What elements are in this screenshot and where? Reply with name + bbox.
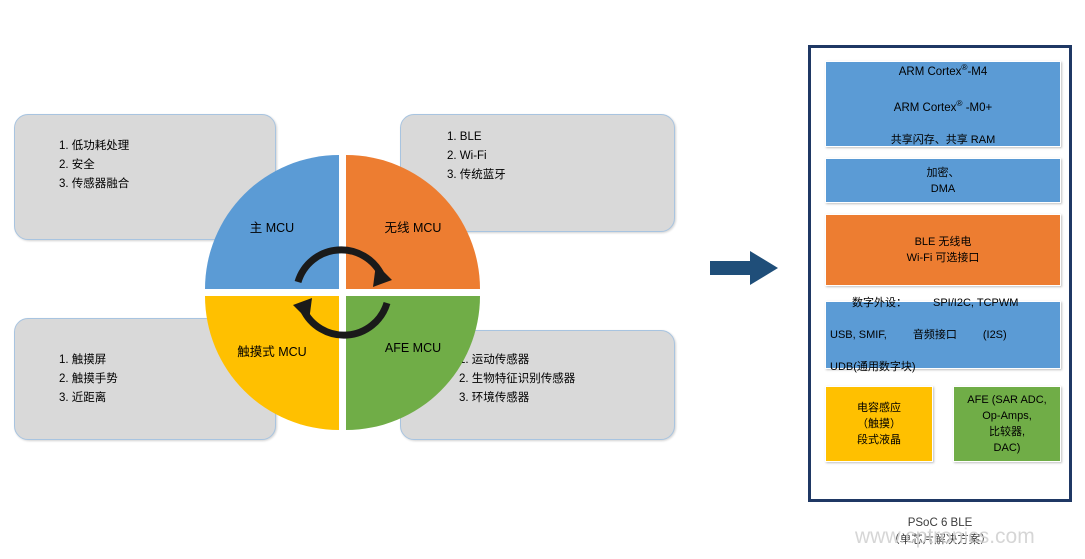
quadrant-main-mcu: 主 MCU [205,155,339,289]
quadrant-wireless-mcu: 无线 MCU [346,155,480,289]
psoc6-block-diagram: ARM Cortex®-M4 ARM Cortex® -M0+ 共享闪存、共享 … [808,45,1072,502]
callout-main-mcu-text: 1. 低功耗处理 2. 安全 3. 传感器融合 [59,137,129,194]
block-digital-row2: USB, SMIF,音频接口(I2S) [830,327,1060,343]
block-arm-cores-line1: ARM Cortex®-M4 [891,60,996,80]
block-arm-cores-line3: 共享闪存、共享 RAM [891,132,996,148]
block-digital-row3: UDB(通用数字块) [830,359,1060,375]
block-afe-text: AFE (SAR ADC, Op-Amps, 比较器, DAC) [967,392,1046,456]
block-arm-cores: ARM Cortex®-M4 ARM Cortex® -M0+ 共享闪存、共享 … [825,61,1061,147]
quadrant-touch-mcu: 触摸式 MCU [205,296,339,430]
callout-touch-mcu-text: 1. 触摸屏 2. 触摸手势 3. 近距离 [59,351,118,408]
mcu-quadrant-wheel: 主 MCU 无线 MCU 触摸式 MCU AFE MCU [205,155,480,430]
block-crypto-dma: 加密、 DMA [825,158,1061,203]
block-digital-row1: 数字外设：SPI/I2C, TCPWM [830,295,1060,311]
block-ble-radio: BLE 无线电 Wi-Fi 可选接口 [825,214,1061,286]
quadrant-wireless-mcu-label: 无线 MCU [346,217,480,236]
block-capsense: 电容感应 （触摸） 段式液晶 [825,386,933,462]
quadrant-touch-mcu-label: 触摸式 MCU [205,341,339,360]
block-arm-cores-line2: ARM Cortex® -M0+ [891,96,996,116]
quadrant-diagram: 1. 低功耗处理 2. 安全 3. 传感器融合 1. BLE 2. Wi-Fi … [0,0,700,559]
quadrant-main-mcu-label: 主 MCU [205,217,339,236]
chip-caption: PSoC 6 BLE （单芯片解决方案） [808,515,1072,549]
block-digital-peripherals: 数字外设：SPI/I2C, TCPWM USB, SMIF,音频接口(I2S) … [825,301,1061,369]
block-crypto-dma-text: 加密、 DMA [927,165,960,197]
block-afe: AFE (SAR ADC, Op-Amps, 比较器, DAC) [953,386,1061,462]
transition-arrow-icon [710,248,780,288]
block-capsense-text: 电容感应 （触摸） 段式液晶 [857,400,901,448]
quadrant-afe-mcu: AFE MCU [346,296,480,430]
block-ble-radio-text: BLE 无线电 Wi-Fi 可选接口 [907,234,980,266]
quadrant-afe-mcu-label: AFE MCU [346,341,480,355]
